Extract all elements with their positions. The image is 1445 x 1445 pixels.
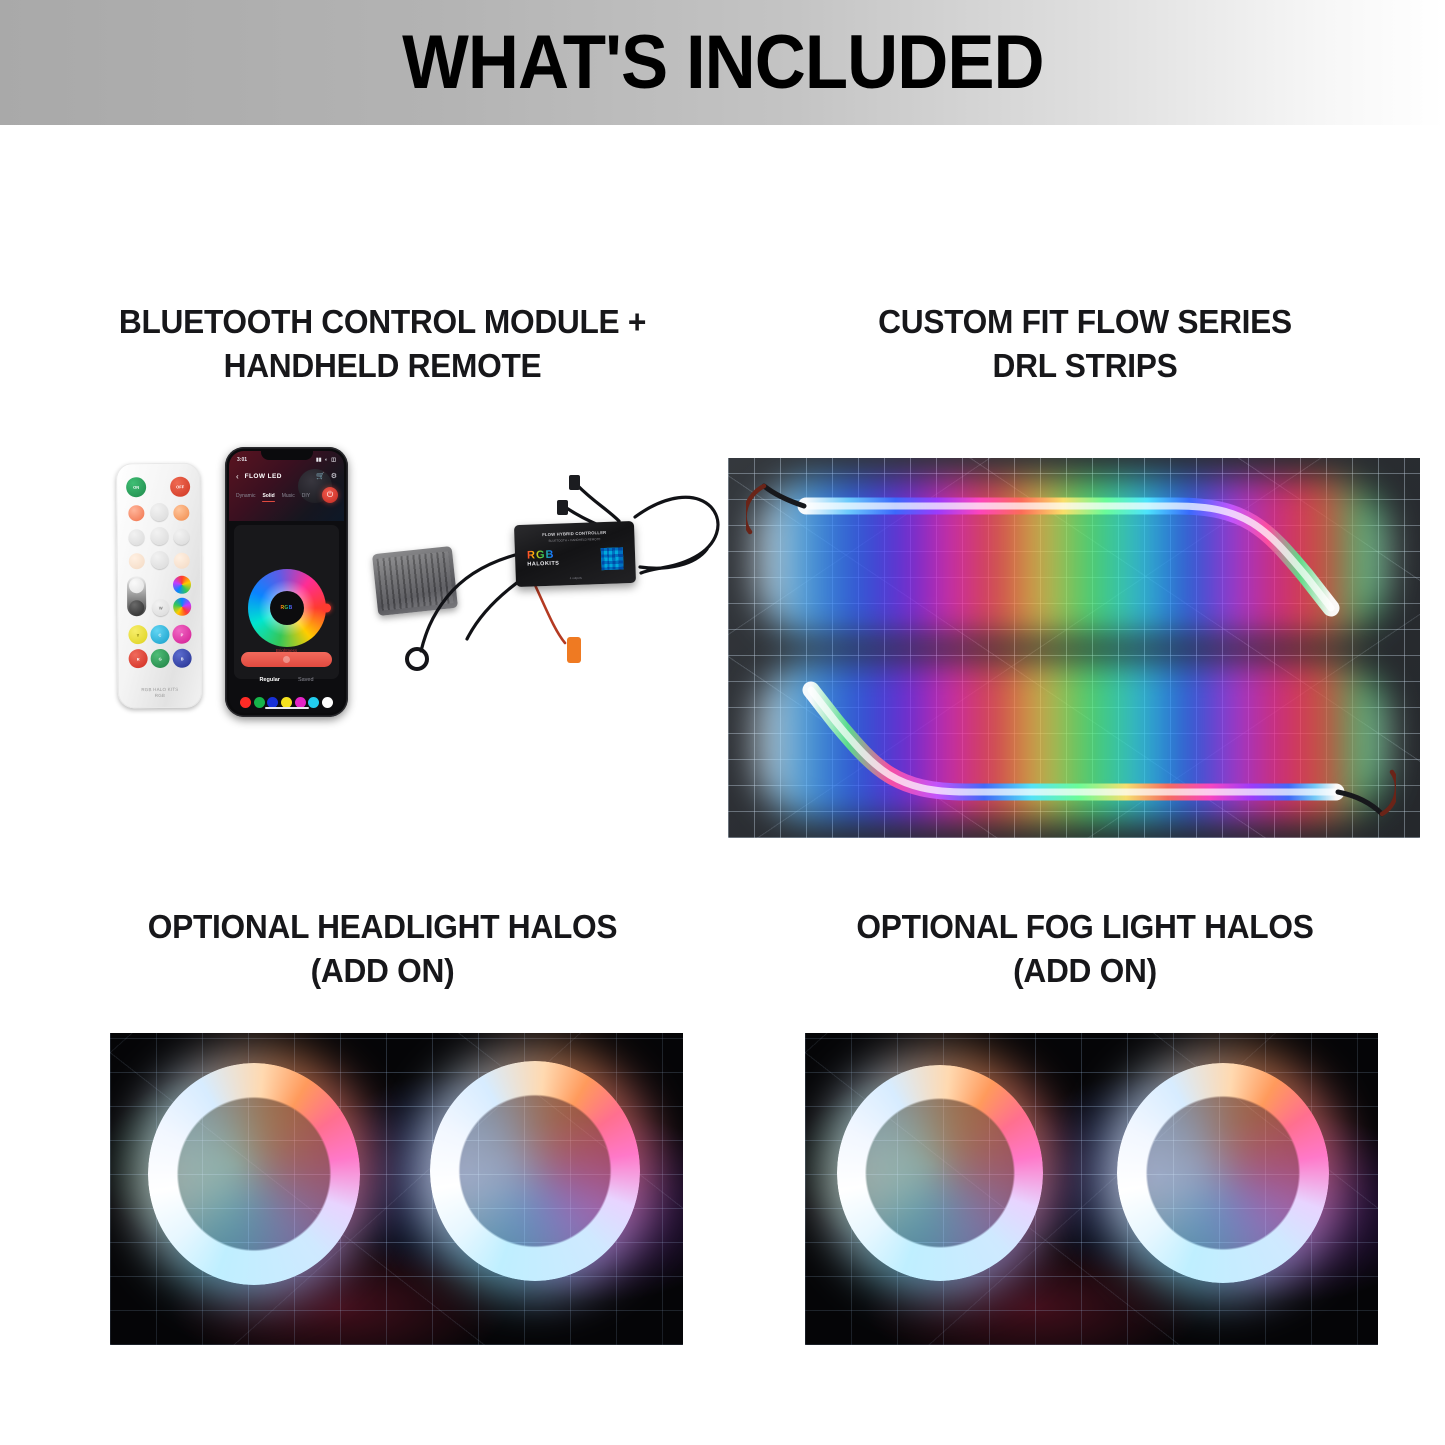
product-photo-bluetooth-module-and-remote: ON OFF W bbox=[95, 445, 745, 725]
remote-button-color-cyan[interactable]: C bbox=[150, 625, 169, 644]
phone-bar-icons: 🛒 ⚙ bbox=[316, 472, 337, 480]
remote-button-brightness-up-2-icon[interactable] bbox=[129, 578, 144, 593]
remote-button-brightness-down[interactable] bbox=[173, 505, 189, 521]
phone-content-area: RGB Edit 1 Regular Saved bbox=[234, 525, 339, 679]
section-heading-bluetooth-control-module: BLUETOOTH CONTROL MODULE + HANDHELD REMO… bbox=[35, 300, 731, 387]
remote-button-color-yellow[interactable]: Y bbox=[128, 625, 147, 644]
remote-button-mode-up-icon[interactable] bbox=[150, 503, 168, 521]
color-wheel-hub: RGB bbox=[270, 591, 304, 625]
drl-strip-upper-wire bbox=[746, 472, 1396, 644]
remote-button-off-label: OFF bbox=[170, 484, 190, 489]
section-heading-drl-strips: CUSTOM FIT FLOW SERIES DRL STRIPS bbox=[754, 300, 1416, 387]
remote-button-auto-icon[interactable] bbox=[150, 527, 168, 545]
swatch-red[interactable] bbox=[240, 697, 251, 708]
phone-notch bbox=[261, 451, 313, 460]
remote-button-brightness-down-2-icon[interactable] bbox=[129, 600, 144, 615]
section-heading-line-2: (ADD ON) bbox=[35, 949, 731, 993]
drl-strip-lower-wire bbox=[746, 654, 1396, 826]
remote-button-music-note-icon[interactable] bbox=[129, 553, 145, 569]
power-icon[interactable]: ⏻ bbox=[322, 487, 338, 503]
remote-button-white-label: W bbox=[152, 605, 169, 610]
remote-brand-line-2: RGB bbox=[118, 693, 202, 700]
section-heading-line-2: HANDHELD REMOTE bbox=[35, 344, 731, 388]
remote-button-color-blue[interactable]: B bbox=[173, 649, 192, 668]
product-photo-fog-light-halos bbox=[805, 1033, 1378, 1345]
remote-button-prev-icon[interactable] bbox=[129, 529, 145, 545]
product-photo-drl-strips bbox=[728, 458, 1420, 838]
fog-light-halo-ring-left-tube bbox=[837, 1065, 1043, 1281]
color-wheel-logo: RGB bbox=[280, 605, 292, 611]
whats-included-infographic: WHAT'S INCLUDED BLUETOOTH CONTROL MODULE… bbox=[0, 0, 1445, 1445]
chevron-left-icon[interactable]: ‹ bbox=[236, 472, 239, 481]
remote-button-off[interactable]: OFF bbox=[170, 477, 190, 497]
headlight-halo-ring-left bbox=[148, 1063, 360, 1285]
remote-button-color-pink[interactable]: P bbox=[172, 625, 191, 644]
tab-diy[interactable]: DIY bbox=[302, 493, 310, 499]
section-heading-line-1: OPTIONAL FOG LIGHT HALOS bbox=[754, 905, 1416, 949]
flow-hybrid-controller-module: FLOW HYBRID CONTROLLER BLUETOOTH + HANDH… bbox=[514, 521, 636, 587]
section-heading-line-1: CUSTOM FIT FLOW SERIES bbox=[754, 300, 1416, 344]
controller-output-label: 4 outputs bbox=[516, 574, 636, 582]
wifi-icon: ◐ bbox=[325, 457, 328, 463]
remote-button-color-yellow-label: Y bbox=[128, 632, 147, 637]
section-heading-line-2: DRL STRIPS bbox=[754, 344, 1416, 388]
segment-regular[interactable]: Regular bbox=[259, 677, 279, 683]
power-icon bbox=[283, 656, 290, 663]
remote-button-brightness-up[interactable] bbox=[128, 505, 144, 521]
swatch-white[interactable] bbox=[322, 697, 333, 708]
headlight-halo-ring-right bbox=[430, 1061, 640, 1281]
phone-status-icons: ▮▮ ◐ ◫ bbox=[314, 457, 336, 463]
remote-button-color-green-label: G bbox=[151, 656, 170, 661]
segment-saved[interactable]: Saved bbox=[298, 677, 314, 683]
phone-segment-tabs: Regular Saved bbox=[234, 677, 339, 683]
drl-strip-lower bbox=[746, 654, 1396, 826]
color-wheel-handle[interactable] bbox=[322, 604, 331, 613]
remote-button-color-pink-label: P bbox=[172, 632, 191, 637]
phone-app-title: FLOW LED bbox=[245, 473, 282, 480]
remote-brand-mark: RGB HALO KITS RGB bbox=[118, 686, 202, 700]
remote-button-on-label: ON bbox=[126, 485, 146, 490]
fuse-holder bbox=[567, 637, 581, 663]
gear-icon[interactable]: ⚙ bbox=[331, 472, 337, 480]
phone-home-indicator bbox=[265, 707, 309, 710]
tab-music[interactable]: Music bbox=[282, 493, 295, 499]
section-heading-fog-light-halos: OPTIONAL FOG LIGHT HALOS (ADD ON) bbox=[754, 905, 1416, 992]
swatch-green[interactable] bbox=[254, 697, 265, 708]
section-heading-line-1: BLUETOOTH CONTROL MODULE + bbox=[35, 300, 731, 344]
section-heading-line-2: (ADD ON) bbox=[754, 949, 1416, 993]
battery-icon: ◫ bbox=[331, 457, 336, 463]
controller-brand-logo: RGB HALOKITS bbox=[527, 550, 560, 568]
power-supply-brick bbox=[372, 546, 458, 616]
signal-icon: ▮▮ bbox=[316, 457, 322, 463]
phone-primary-action-button[interactable] bbox=[241, 652, 332, 667]
page-header-banner: WHAT'S INCLUDED bbox=[0, 0, 1445, 125]
phone-status-time: 3:01 bbox=[237, 457, 247, 463]
remote-button-color-red-label: R bbox=[129, 656, 148, 661]
smartphone-app-preview: 3:01 ▮▮ ◐ ◫ ‹ FLOW LED 🛒 ⚙ bbox=[225, 447, 348, 717]
fog-light-halo-ring-right-tube bbox=[1117, 1063, 1329, 1283]
phone-screen: 3:01 ▮▮ ◐ ◫ ‹ FLOW LED 🛒 ⚙ bbox=[229, 451, 344, 713]
ring-terminal bbox=[407, 649, 427, 669]
remote-button-music-note-2-icon[interactable] bbox=[174, 553, 190, 569]
cart-icon[interactable]: 🛒 bbox=[316, 472, 325, 480]
qr-code-icon bbox=[601, 547, 624, 570]
controller-logo-secondary: HALOKITS bbox=[527, 561, 559, 568]
remote-button-on[interactable]: ON bbox=[126, 477, 146, 497]
remote-button-color-green[interactable]: G bbox=[151, 649, 170, 668]
remote-button-next-icon[interactable] bbox=[174, 529, 190, 545]
handheld-remote: ON OFF W bbox=[116, 463, 202, 709]
color-wheel-picker[interactable]: RGB bbox=[248, 569, 326, 647]
headlight-halo-ring-left-tube bbox=[148, 1063, 360, 1285]
remote-button-smiley-icon[interactable] bbox=[173, 598, 191, 616]
swatch-cyan[interactable] bbox=[308, 697, 319, 708]
section-heading-line-1: OPTIONAL HEADLIGHT HALOS bbox=[35, 905, 731, 949]
page-title: WHAT'S INCLUDED bbox=[402, 25, 1044, 101]
remote-button-color-red[interactable]: R bbox=[129, 649, 148, 668]
remote-button-color-cyan-label: C bbox=[150, 632, 169, 637]
remote-button-white[interactable]: W bbox=[152, 599, 169, 616]
drl-strip-upper bbox=[746, 472, 1396, 644]
phone-title-bar: ‹ FLOW LED 🛒 ⚙ bbox=[229, 468, 344, 484]
remote-button-color-blue-label: B bbox=[173, 656, 192, 661]
tab-solid[interactable]: Solid bbox=[262, 493, 274, 499]
remote-button-mode-down-icon[interactable] bbox=[151, 551, 169, 569]
headlight-halo-ring-right-tube bbox=[430, 1061, 640, 1281]
product-photo-headlight-halos bbox=[110, 1033, 683, 1345]
remote-button-rainbow-icon[interactable] bbox=[173, 576, 191, 594]
tab-dynamic[interactable]: Dynamic bbox=[236, 493, 255, 499]
fog-light-halo-ring-right bbox=[1117, 1063, 1329, 1283]
fog-light-halo-ring-left bbox=[837, 1065, 1043, 1281]
section-heading-headlight-halos: OPTIONAL HEADLIGHT HALOS (ADD ON) bbox=[35, 905, 731, 992]
